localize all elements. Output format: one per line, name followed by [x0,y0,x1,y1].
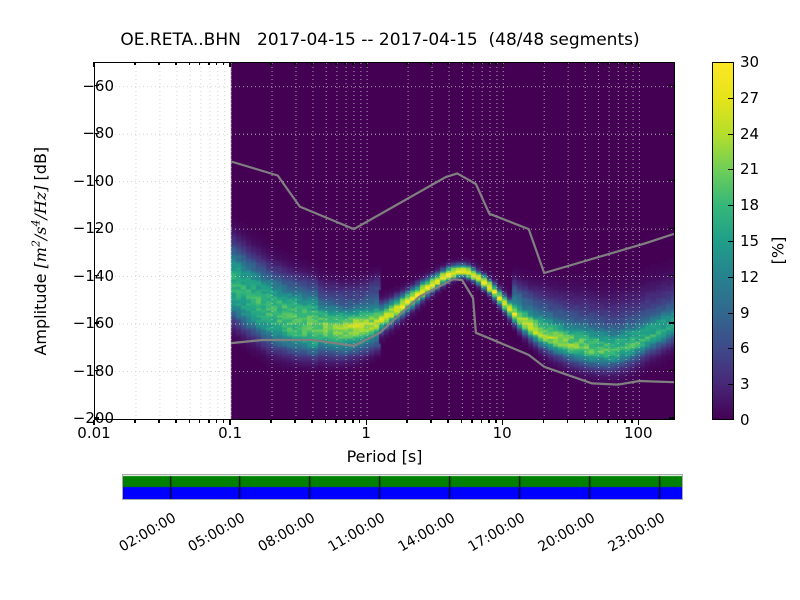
x-tick-mark-top-minor [223,62,224,65]
x-tick-mark-top-minor [631,62,632,65]
x-tick-mark-top-minor [597,62,598,65]
y-tick-mark [94,228,99,229]
coverage-time-label: 05:00:00 [180,510,249,559]
coverage-time-label: 11:00:00 [320,510,389,559]
x-tick-label: 1 [361,424,371,442]
colorbar-tick-label: 30 [740,53,759,71]
x-tick-mark-minor [216,420,217,423]
x-tick-mark-top-minor [481,62,482,65]
x-tick-mark-top [229,62,230,67]
y-tick-mark-inner [669,275,674,276]
y-tick-mark-inner [669,322,674,323]
x-tick-mark-top-minor [584,62,585,65]
noise-model-curves [95,63,674,419]
y-axis-label-units: [m2/s4/Hz] [31,186,50,269]
time-coverage-axes [122,474,683,500]
y-axis-label: Amplitude [m2/s4/Hz] [dB] [30,71,50,431]
colorbar-tick-mark [728,384,734,385]
y-tick-mark-inner [669,228,674,229]
y-tick-mark [94,85,99,86]
x-tick-mark-minor [447,420,448,423]
x-tick-mark-minor [175,420,176,423]
y-tick-mark [94,133,99,134]
y-tick-mark-inner [669,370,674,371]
x-tick-mark-minor [325,420,326,423]
colorbar-tick-mark [728,98,734,99]
x-tick-mark [366,420,367,425]
coverage-time-label: 14:00:00 [389,510,458,559]
ppsd-figure: OE.RETA..BHN 2017-04-15 -- 2017-04-15 (4… [0,0,800,600]
x-tick-mark-minor [597,420,598,423]
coverage-time-label: 23:00:00 [599,510,668,559]
y-tick-mark [94,417,99,418]
colorbar-tick-mark [728,169,734,170]
x-tick-mark-top-minor [158,62,159,65]
x-tick-mark-top-minor [311,62,312,65]
x-tick-mark-minor [406,420,407,423]
x-tick-mark-top-minor [294,62,295,65]
y-tick-mark [94,180,99,181]
colorbar-tick-mark [728,241,734,242]
colorbar-tick-mark [728,313,734,314]
x-tick-mark-minor [199,420,200,423]
x-tick-mark-minor [189,420,190,423]
coverage-time-label: 17:00:00 [459,510,528,559]
y-axis-label-suffix: [dB] [31,147,50,186]
x-tick-mark-minor [335,420,336,423]
colorbar-tick-label: 27 [740,89,759,107]
x-tick-mark-top-minor [216,62,217,65]
x-tick-label: 10 [493,424,512,442]
colorbar-tick-mark [728,277,734,278]
y-tick-mark [94,275,99,276]
x-tick-mark-minor [294,420,295,423]
colorbar-tick-mark [728,205,734,206]
x-tick-mark-top-minor [208,62,209,65]
x-tick-mark [93,420,94,425]
x-tick-mark-minor [631,420,632,423]
colorbar-tick-label: 24 [740,125,759,143]
x-tick-mark-minor [471,420,472,423]
plot-title: OE.RETA..BHN 2017-04-15 -- 2017-04-15 (4… [0,30,760,50]
x-tick-mark-top-minor [344,62,345,65]
x-tick-mark-top [366,62,367,67]
ppsd-axes [94,62,675,420]
colorbar-tick-label: 15 [740,232,759,250]
colorbar-tick-label: 6 [740,339,750,357]
colorbar-tick-label: 21 [740,160,759,178]
x-tick-mark-top-minor [325,62,326,65]
x-tick-mark-minor [617,420,618,423]
colorbar-tick-mark [728,348,734,349]
y-tick-mark-inner [669,417,674,418]
x-tick-mark-top-minor [471,62,472,65]
x-tick-mark-minor [270,420,271,423]
x-tick-label: 100 [624,424,653,442]
x-tick-mark-top-minor [624,62,625,65]
x-axis-label: Period [s] [94,447,675,466]
x-tick-mark-minor [624,420,625,423]
x-tick-mark-top [502,62,503,67]
x-tick-mark-top-minor [543,62,544,65]
x-tick-mark-minor [567,420,568,423]
y-tick-mark [94,322,99,323]
coverage-time-label: 02:00:00 [110,510,179,559]
x-tick-mark-minor [158,420,159,423]
x-tick-mark-minor [430,420,431,423]
x-tick-mark-minor [543,420,544,423]
colorbar-tick-label: 3 [740,375,750,393]
y-tick-mark-inner [669,180,674,181]
x-tick-mark-top-minor [199,62,200,65]
x-tick-label: 0.01 [77,424,110,442]
noise-model-nlnm [231,279,674,384]
colorbar-tick-label: 18 [740,196,759,214]
coverage-time-label: 08:00:00 [250,510,319,559]
x-tick-mark-top [638,62,639,67]
x-tick-mark-top-minor [335,62,336,65]
y-axis-label-prefix: Amplitude [31,268,50,355]
x-tick-mark-minor [488,420,489,423]
coverage-time-label: 20:00:00 [529,510,598,559]
colorbar-label: [%] [769,171,788,331]
x-tick-mark-minor [359,420,360,423]
colorbar-tick-label: 12 [740,268,759,286]
x-tick-mark-minor [495,420,496,423]
noise-model-nhnm [231,162,674,274]
x-tick-mark-minor [134,420,135,423]
x-tick-mark-top-minor [134,62,135,65]
x-tick-mark-minor [584,420,585,423]
x-tick-mark-minor [607,420,608,423]
x-tick-mark-minor [352,420,353,423]
time-coverage-bar [123,475,682,499]
x-tick-mark-top-minor [617,62,618,65]
x-tick-mark-top-minor [447,62,448,65]
x-tick-mark-top-minor [270,62,271,65]
x-tick-mark-top-minor [352,62,353,65]
x-tick-mark-top-minor [567,62,568,65]
x-tick-mark-top-minor [430,62,431,65]
colorbar-tick-mark [728,134,734,135]
x-tick-mark [638,420,639,425]
x-tick-mark-minor [481,420,482,423]
x-tick-mark-top-minor [607,62,608,65]
x-tick-mark-top-minor [495,62,496,65]
x-tick-mark-minor [344,420,345,423]
y-tick-mark-inner [669,85,674,86]
x-tick-mark-top-minor [175,62,176,65]
x-tick-mark-minor [208,420,209,423]
colorbar-tick-label: 0 [740,411,750,429]
x-tick-mark-top [93,62,94,67]
x-tick-mark-top-minor [359,62,360,65]
x-tick-label: 0.1 [218,424,242,442]
x-tick-mark-minor [311,420,312,423]
x-tick-mark-top-minor [461,62,462,65]
y-tick-mark-inner [669,133,674,134]
x-tick-mark-top-minor [406,62,407,65]
x-tick-mark [502,420,503,425]
x-tick-mark-minor [223,420,224,423]
colorbar-tick-label: 9 [740,304,750,322]
x-tick-mark-minor [461,420,462,423]
y-tick-mark [94,370,99,371]
x-tick-mark-top-minor [488,62,489,65]
x-tick-mark-top-minor [189,62,190,65]
x-tick-mark [229,420,230,425]
